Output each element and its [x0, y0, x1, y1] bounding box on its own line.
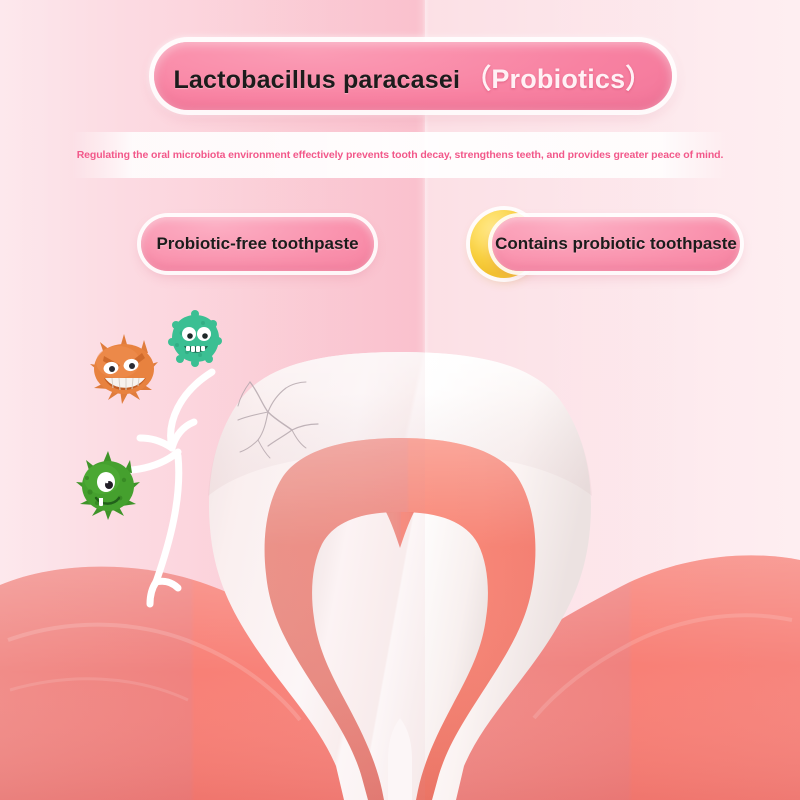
page-title-suffix: （Probiotics） — [464, 57, 652, 96]
green-germ-icon — [70, 448, 146, 524]
subtitle-band: Regulating the oral microbiota environme… — [72, 132, 728, 178]
label-pill-probiotic-free: Probiotic-free toothpaste — [141, 217, 374, 271]
infographic-canvas: Lactobacillus paracasei （Probiotics） Reg… — [0, 0, 800, 800]
label-probiotic-free: Probiotic-free toothpaste — [156, 234, 358, 254]
page-title: Lactobacillus paracasei — [173, 66, 460, 95]
label-contains-probiotic: Contains probiotic toothpaste — [495, 234, 737, 254]
title-pill: Lactobacillus paracasei （Probiotics） — [154, 42, 672, 110]
subtitle-text: Regulating the oral microbiota environme… — [77, 149, 724, 161]
teal-germ-icon — [167, 311, 223, 367]
orange-angry-germ-icon — [78, 322, 170, 414]
label-pill-contains-probiotic: Contains probiotic toothpaste — [492, 217, 740, 271]
